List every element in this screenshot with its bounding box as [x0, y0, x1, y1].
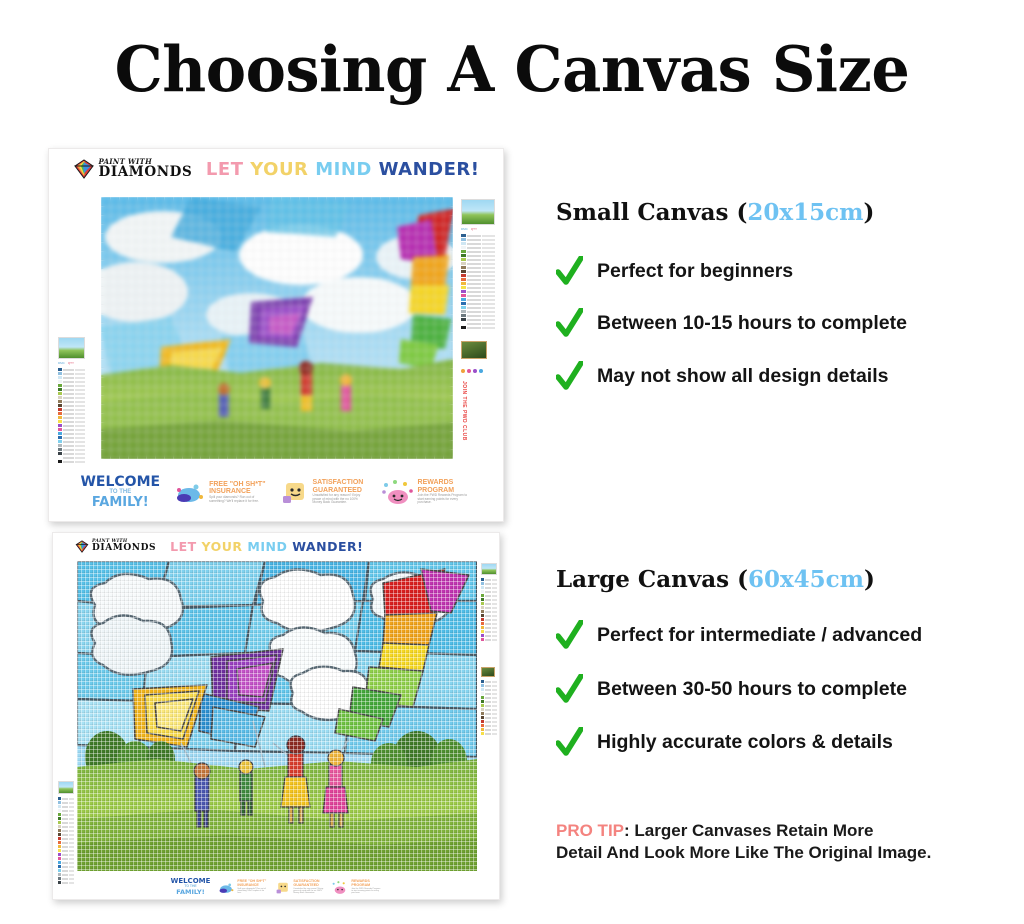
legend-count-bar — [69, 802, 75, 804]
legend-code-bar — [62, 798, 68, 800]
legend-count-bar — [75, 461, 86, 463]
legend-row — [481, 630, 497, 633]
legend-count-bar — [482, 327, 496, 329]
legend-row — [58, 420, 85, 423]
legend-count-bar — [482, 279, 496, 281]
legend-count-bar — [75, 421, 86, 423]
legend-count-bar — [482, 259, 496, 261]
legend-row — [58, 396, 85, 399]
legend-count-bar — [482, 267, 496, 269]
large-canvas-heading: Large Canvas (60x45cm) — [556, 566, 875, 593]
legend-count-bar — [75, 389, 86, 391]
legend-code-bar — [467, 283, 481, 285]
legend-count-bar — [69, 834, 75, 836]
kite-scene-illustration-large — [77, 561, 477, 871]
legend-code-bar — [62, 806, 68, 808]
legend-swatch — [481, 684, 484, 687]
legend-count-bar — [482, 287, 496, 289]
legend-row — [481, 610, 497, 613]
legend-code-bar — [467, 307, 481, 309]
artwork-scene-large — [77, 561, 477, 871]
legend-code-bar — [62, 858, 68, 860]
legend-swatch — [58, 368, 62, 371]
legend-thumbnail-right — [461, 199, 495, 225]
legend-count-bar — [482, 275, 496, 277]
legend-swatch — [58, 444, 62, 447]
small-bullet-1-text: Perfect for beginners — [597, 260, 793, 283]
legend-row — [58, 849, 74, 852]
legend-row — [58, 829, 74, 832]
legend-count-bar — [492, 587, 498, 589]
legend-count-bar — [75, 393, 86, 395]
legend-code-bar — [63, 445, 74, 447]
legend-swatch — [58, 412, 62, 415]
check-icon — [556, 620, 583, 650]
legend-code-bar — [62, 818, 68, 820]
legend-code-bar — [467, 271, 481, 273]
legend-count-bar — [75, 441, 86, 443]
legend-count-bar — [75, 401, 86, 403]
legend-row — [481, 708, 497, 711]
legend-code-bar — [467, 299, 481, 301]
poster-root: Choosing A Canvas Size PAINT WITH DIAMON… — [0, 0, 1024, 924]
legend-swatch — [58, 432, 62, 435]
legend-row — [58, 805, 74, 808]
legend-count-bar — [69, 850, 75, 852]
large-canvas-preview[interactable]: PAINT WITH DIAMONDS LET YOUR MIND WANDER… — [52, 532, 500, 900]
legend-code-bar — [62, 842, 68, 844]
legend-swatch — [58, 829, 61, 832]
legend-swatch — [481, 692, 484, 695]
pro-tip-line2: Detail And Look More Like The Original I… — [556, 843, 931, 862]
mini-photo-icon — [461, 341, 487, 359]
legend-count-bar — [69, 822, 75, 824]
legend-swatch — [58, 460, 62, 463]
legend-swatch — [481, 630, 484, 633]
tagline-your: YOUR — [250, 159, 308, 180]
legend-swatch — [481, 590, 484, 593]
small-canvas-preview[interactable]: PAINT WITH DIAMONDS LET YOUR MIND WANDER… — [48, 148, 504, 522]
brand-logo-large: PAINT WITH DIAMONDS — [75, 540, 156, 553]
legend-row — [58, 861, 74, 864]
small-bullet-2: Between 10-15 hours to complete — [556, 308, 907, 338]
welcome-line1: WELCOME — [80, 475, 160, 490]
rainbow-diamond-icon — [73, 159, 95, 179]
legend-swatch — [481, 638, 484, 641]
legend-swatch — [58, 408, 62, 411]
legend-row — [481, 692, 497, 695]
legend-swatch — [461, 250, 466, 253]
legend-swatch — [58, 825, 61, 828]
legend-count-bar — [482, 239, 496, 241]
legend-row — [461, 318, 495, 321]
legend-code-bar — [467, 243, 481, 245]
legend-swatch — [461, 258, 466, 261]
legend-row — [461, 306, 495, 309]
legend-count-bar — [492, 709, 498, 711]
badge-sub: Spill your diamonds? Run out of somethin… — [237, 888, 267, 895]
legend-swatch — [481, 712, 484, 715]
legend-row — [461, 258, 495, 261]
legend-swatch — [481, 610, 484, 613]
tagline-wander: WANDER! — [379, 159, 480, 180]
legend-swatch — [461, 314, 466, 317]
legend-count-bar — [492, 615, 498, 617]
legend-code-bar — [485, 705, 491, 707]
legend-code-bar — [63, 409, 74, 411]
legend-row — [461, 314, 495, 317]
legend-code-bar — [467, 303, 481, 305]
legend-count-bar — [75, 413, 86, 415]
legend-code-bar — [485, 627, 491, 629]
legend-row — [481, 712, 497, 715]
legend-count-bar — [75, 457, 86, 459]
legend-row — [481, 586, 497, 589]
legend-row — [481, 594, 497, 597]
legend-count-bar — [482, 251, 496, 253]
legend-row — [481, 732, 497, 735]
legend-swatch — [58, 805, 61, 808]
legend-row — [461, 302, 495, 305]
legend-color-table-right — [481, 578, 497, 641]
legend-row — [58, 801, 74, 804]
legend-row — [481, 606, 497, 609]
legend-count-bar — [482, 283, 496, 285]
check-icon — [556, 256, 583, 286]
legend-row — [58, 424, 85, 427]
legend-swatch — [461, 246, 466, 249]
legend-swatch — [481, 598, 484, 601]
legend-count-bar — [69, 818, 75, 820]
club-dot — [479, 369, 483, 373]
rainbow-diamond-icon — [75, 540, 89, 553]
legend-count-bar — [492, 733, 498, 735]
legend-row — [58, 404, 85, 407]
small-heading-label: Small Canvas ( — [556, 199, 747, 226]
legend-code-bar — [485, 603, 491, 605]
legend-swatch — [461, 238, 466, 241]
legend-code-bar — [467, 291, 481, 293]
legend-color-table — [58, 797, 74, 884]
legend-row — [461, 282, 495, 285]
legend-swatch — [481, 606, 484, 609]
legend-row — [481, 638, 497, 641]
legend-swatch — [481, 594, 484, 597]
mini-photo-icon — [481, 667, 495, 677]
badge-title: SATISFACTION — [313, 479, 367, 487]
legend-code-bar — [467, 251, 481, 253]
legend-code-bar — [62, 814, 68, 816]
legend-count-bar — [75, 377, 86, 379]
badge-insurance: FREE "OH SH*T" INSURANCE Spill your diam… — [174, 478, 265, 506]
legend-swatch — [481, 728, 484, 731]
legend-count-bar — [492, 729, 498, 731]
join-club-label: JOIN THE PWD CLUB — [461, 381, 467, 441]
legend-code-bar — [485, 697, 491, 699]
legend-count-bar — [69, 806, 75, 808]
badge-sub: Join the PWD Rewards Program to start ea… — [351, 888, 381, 895]
legend-code-bar — [467, 311, 481, 313]
legend-code-bar — [485, 713, 491, 715]
legend-code-bar — [63, 405, 74, 407]
legend-row — [58, 865, 74, 868]
legend-swatch — [58, 384, 62, 387]
legend-row — [58, 837, 74, 840]
legend-thumbnail — [58, 781, 74, 794]
brand-diamonds: DIAMONDS — [92, 544, 156, 553]
legend-row — [58, 813, 74, 816]
legend-color-table-right2 — [481, 680, 497, 735]
legend-row — [481, 618, 497, 621]
legend-count-bar — [492, 685, 498, 687]
legend-swatch — [481, 614, 484, 617]
canvas-artwork-large — [77, 561, 477, 871]
legend-code-bar — [62, 862, 68, 864]
badge-title: FREE "OH SH*T" — [209, 481, 265, 489]
welcome-line3: FAMILY! — [171, 889, 211, 896]
legend-row — [58, 853, 74, 856]
legend-swatch — [481, 732, 484, 735]
legend-swatch — [461, 306, 466, 309]
legend-row — [481, 578, 497, 581]
large-heading-label: Large Canvas ( — [556, 566, 748, 593]
tagline-let: LET — [206, 159, 244, 180]
legend-code-bar — [467, 267, 481, 269]
legend-count-bar — [492, 583, 498, 585]
legend-swatch — [58, 841, 61, 844]
legend-row — [481, 680, 497, 683]
legend-code-bar — [63, 397, 74, 399]
legend-swatch — [58, 376, 62, 379]
legend-code-bar — [63, 393, 74, 395]
spilled-paint-icon — [174, 478, 206, 506]
check-icon — [556, 727, 583, 757]
legend-code-bar — [63, 437, 74, 439]
small-heading-close: ) — [863, 199, 874, 226]
legend-count-bar — [492, 595, 498, 597]
legend-count-bar — [482, 323, 496, 325]
legend-code-bar — [467, 263, 481, 265]
legend-swatch — [58, 420, 62, 423]
legend-count-bar — [482, 299, 496, 301]
badge-rewards-large: REWARDS PROGRAM Join the PWD Rewards Pro… — [331, 880, 381, 895]
legend-row — [58, 392, 85, 395]
legend-count-bar — [69, 798, 75, 800]
legend-swatch — [58, 456, 62, 459]
legend-code-bar — [485, 583, 491, 585]
legend-qty-label-right: QTY — [471, 227, 477, 231]
welcome-line3: FAMILY! — [80, 496, 160, 510]
legend-count-bar — [69, 870, 75, 872]
page-title: Choosing A Canvas Size — [20, 38, 1003, 101]
legend-row — [58, 797, 74, 800]
legend-count-bar — [492, 579, 498, 581]
legend-row — [58, 460, 85, 463]
legend-swatch — [58, 817, 61, 820]
club-dot — [467, 369, 471, 373]
happy-canvas-icon — [275, 880, 291, 895]
legend-swatch — [461, 234, 466, 237]
legend-right-small: DMC QTY JOIN THE PWD CLUB — [461, 199, 495, 441]
legend-swatch — [58, 380, 62, 383]
badge-sub: Spill your diamonds? Run out of somethin… — [209, 496, 263, 503]
legend-code-bar — [485, 587, 491, 589]
legend-swatch — [481, 582, 484, 585]
legend-right-large — [481, 563, 497, 735]
legend-swatch — [461, 298, 466, 301]
legend-code-bar — [467, 319, 481, 321]
legend-row — [58, 376, 85, 379]
legend-row — [481, 590, 497, 593]
legend-row — [481, 622, 497, 625]
legend-swatch — [461, 294, 466, 297]
legend-row — [58, 825, 74, 828]
legend-swatch — [461, 274, 466, 277]
badge-guarantee: SATISFACTION GUARANTEED Unsatisfied for … — [280, 478, 367, 506]
legend-swatch — [481, 688, 484, 691]
legend-swatch — [481, 696, 484, 699]
welcome-badge: WELCOME TO THE FAMILY! — [80, 475, 160, 510]
legend-code-bar — [62, 838, 68, 840]
legend-count-bar — [492, 607, 498, 609]
legend-swatch — [461, 286, 466, 289]
large-bullet-1-text: Perfect for intermediate / advanced — [597, 624, 922, 647]
canvas-artwork-small — [101, 197, 453, 459]
legend-count-bar — [492, 591, 498, 593]
legend-row — [481, 598, 497, 601]
legend-row — [58, 444, 85, 447]
legend-code-bar — [485, 639, 491, 641]
legend-row — [461, 278, 495, 281]
legend-swatch — [461, 282, 466, 285]
club-dot — [473, 369, 477, 373]
legend-code-bar — [63, 373, 74, 375]
legend-count-bar — [75, 381, 86, 383]
legend-swatch — [58, 853, 61, 856]
legend-code-bar — [62, 870, 68, 872]
legend-row — [481, 704, 497, 707]
legend-count-bar — [75, 409, 86, 411]
legend-row — [58, 372, 85, 375]
confetti-gem-icon — [381, 478, 415, 506]
legend-swatch — [481, 700, 484, 703]
legend-row — [58, 432, 85, 435]
legend-swatch — [461, 254, 466, 257]
legend-code-bar — [485, 685, 491, 687]
legend-count-bar — [492, 689, 498, 691]
legend-swatch — [58, 801, 61, 804]
legend-count-bar — [69, 858, 75, 860]
legend-count-bar — [492, 697, 498, 699]
legend-swatch — [461, 266, 466, 269]
legend-code-bar — [467, 323, 481, 325]
legend-row — [481, 724, 497, 727]
legend-code-bar — [63, 457, 74, 459]
legend-count-bar — [75, 429, 86, 431]
legend-left-large — [58, 781, 74, 884]
legend-count-bar — [69, 838, 75, 840]
legend-header-right: DMC QTY — [461, 227, 495, 231]
legend-code-bar — [485, 729, 491, 731]
brand-diamonds: DIAMONDS — [99, 166, 193, 179]
badge-guarantee-large: SATISFACTION GUARANTEED Unsatisfied for … — [275, 880, 323, 895]
legend-count-bar — [482, 319, 496, 321]
legend-row — [58, 809, 74, 812]
legend-code-bar — [485, 579, 491, 581]
legend-swatch — [58, 849, 61, 852]
legend-row — [58, 408, 85, 411]
legend-swatch — [481, 586, 484, 589]
legend-thumbnail — [58, 337, 85, 359]
legend-row — [58, 436, 85, 439]
legend-swatch — [481, 704, 484, 707]
legend-code-bar — [485, 635, 491, 637]
legend-swatch — [58, 813, 61, 816]
legend-count-bar — [482, 295, 496, 297]
legend-code-bar — [63, 449, 74, 451]
legend-dmc-label-right: DMC — [461, 227, 468, 231]
legend-thumbnail-right — [481, 563, 497, 575]
legend-code-bar — [63, 401, 74, 403]
legend-swatch — [481, 618, 484, 621]
legend-code-bar — [62, 826, 68, 828]
legend-row — [58, 388, 85, 391]
legend-row — [461, 266, 495, 269]
legend-row — [58, 821, 74, 824]
legend-swatch — [461, 242, 466, 245]
legend-row — [461, 234, 495, 237]
legend-row — [58, 452, 85, 455]
legend-row — [481, 720, 497, 723]
legend-count-bar — [492, 639, 498, 641]
check-icon — [556, 361, 583, 391]
legend-count-bar — [492, 681, 498, 683]
legend-row — [58, 416, 85, 419]
legend-count-bar — [492, 619, 498, 621]
legend-color-table-right — [461, 234, 495, 329]
legend-code-bar — [485, 615, 491, 617]
legend-code-bar — [63, 417, 74, 419]
welcome-badge-large: WELCOME TO THE FAMILY! — [171, 878, 211, 896]
tagline-let: LET — [170, 539, 197, 554]
legend-code-bar — [467, 239, 481, 241]
small-canvas-heading: Small Canvas (20x15cm) — [556, 199, 874, 226]
large-heading-close: ) — [864, 566, 875, 593]
legend-count-bar — [492, 701, 498, 703]
legend-swatch — [461, 326, 466, 329]
legend-row — [461, 262, 495, 265]
legend-row — [461, 274, 495, 277]
legend-code-bar — [467, 287, 481, 289]
legend-code-bar — [485, 619, 491, 621]
legend-swatch — [58, 436, 62, 439]
small-bullet-3: May not show all design details — [556, 361, 888, 391]
legend-code-bar — [63, 429, 74, 431]
legend-count-bar — [75, 445, 86, 447]
legend-code-bar — [63, 385, 74, 387]
legend-swatch — [481, 626, 484, 629]
badge-sub: Unsatisfied for any reason? Enjoy peace … — [293, 888, 323, 895]
legend-count-bar — [482, 271, 496, 273]
legend-row — [58, 384, 85, 387]
legend-count-bar — [69, 854, 75, 856]
small-bullet-1: Perfect for beginners — [556, 256, 793, 286]
legend-row — [58, 845, 74, 848]
legend-code-bar — [467, 247, 481, 249]
legend-swatch — [481, 680, 484, 683]
legend-code-bar — [63, 425, 74, 427]
legend-row — [461, 310, 495, 313]
